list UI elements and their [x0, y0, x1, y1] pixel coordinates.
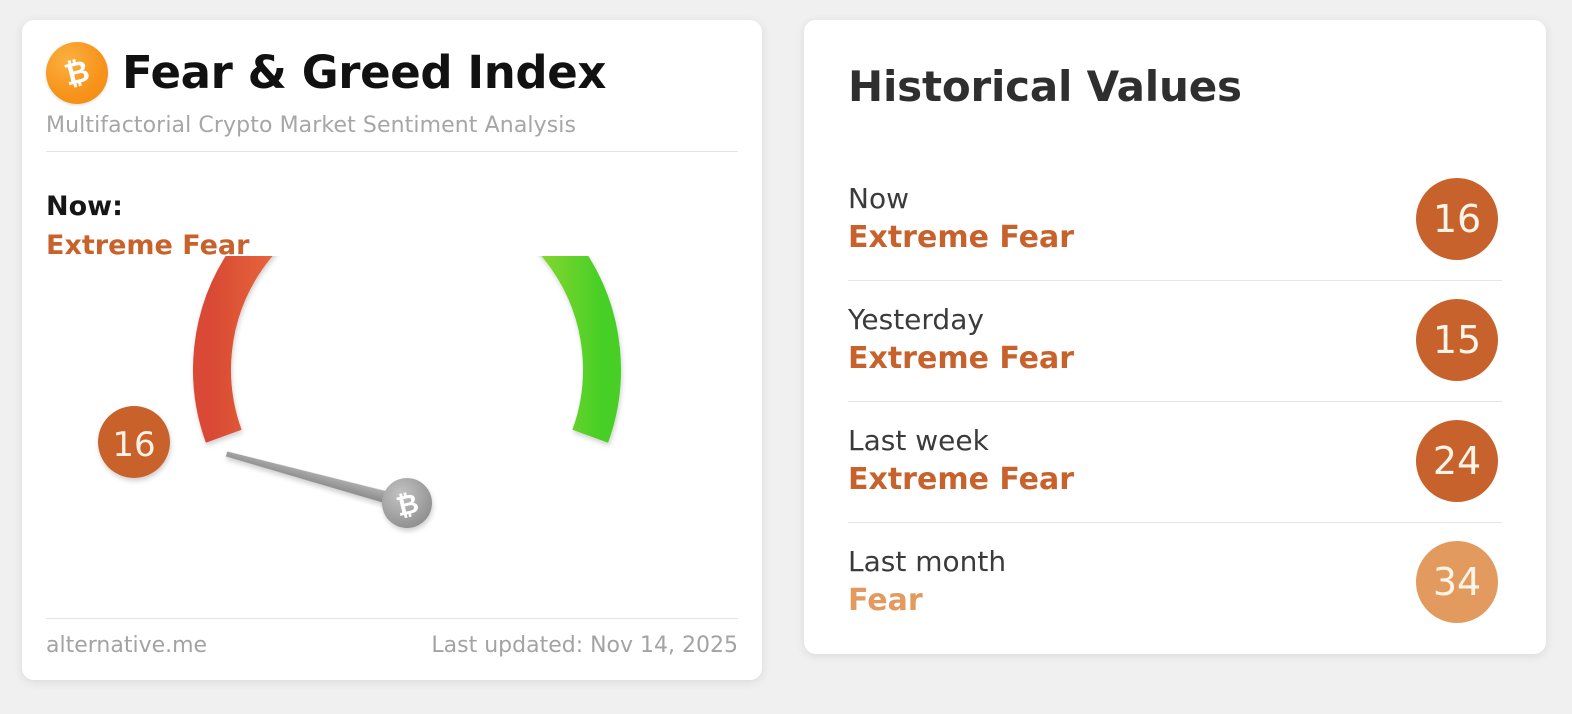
now-label: Now:: [46, 190, 249, 224]
historical-row-value-badge: 34: [1416, 541, 1498, 623]
historical-values-list: NowExtreme Fear16YesterdayExtreme Fear15…: [848, 160, 1502, 643]
historical-row: YesterdayExtreme Fear15: [848, 281, 1502, 402]
historical-row-classification: Extreme Fear: [848, 221, 1074, 256]
svg-text:16: 16: [112, 425, 155, 465]
historical-row-value-badge: 15: [1416, 299, 1498, 381]
historical-row-classification: Extreme Fear: [848, 463, 1074, 498]
historical-row-classification: Extreme Fear: [848, 342, 1074, 377]
historical-row-text: Last monthFear: [848, 546, 1006, 619]
source-link[interactable]: alternative.me: [46, 633, 207, 658]
page-subtitle: Multifactorial Crypto Market Sentiment A…: [46, 113, 738, 138]
fear-greed-index-card: ₿ Fear & Greed Index Multifactorial Cryp…: [22, 20, 762, 680]
historical-row: Last monthFear34: [848, 523, 1502, 643]
fear-greed-dashboard: ₿ Fear & Greed Index Multifactorial Cryp…: [0, 0, 1572, 714]
title-row: ₿ Fear & Greed Index: [46, 42, 738, 104]
historical-row-period: Last month: [848, 546, 1006, 578]
historical-row-text: Last weekExtreme Fear: [848, 425, 1074, 498]
historical-row-text: YesterdayExtreme Fear: [848, 304, 1074, 377]
historical-row: NowExtreme Fear16: [848, 160, 1502, 281]
historical-values-card: Historical Values NowExtreme Fear16Yeste…: [804, 20, 1546, 654]
historical-row-classification: Fear: [848, 584, 1006, 619]
historical-row-period: Now: [848, 183, 1074, 215]
footer-divider: [46, 618, 738, 619]
gauge-card-header: ₿ Fear & Greed Index Multifactorial Cryp…: [46, 42, 738, 152]
header-divider: [46, 151, 738, 152]
historical-values-title: Historical Values: [848, 62, 1242, 111]
last-updated-text: Last updated: Nov 14, 2025: [431, 633, 738, 658]
svg-text:₿: ₿: [61, 54, 93, 93]
now-status-block: Now: Extreme Fear: [46, 190, 249, 263]
historical-row: Last weekExtreme Fear24: [848, 402, 1502, 523]
historical-row-period: Last week: [848, 425, 1074, 457]
historical-row-text: NowExtreme Fear: [848, 183, 1074, 256]
bitcoin-icon: ₿: [46, 42, 108, 104]
historical-row-period: Yesterday: [848, 304, 1074, 336]
gauge-chart: ₿ 16: [22, 256, 762, 608]
gauge-card-footer: alternative.me Last updated: Nov 14, 202…: [46, 618, 738, 658]
historical-row-value-badge: 16: [1416, 178, 1498, 260]
page-title: Fear & Greed Index: [122, 49, 606, 96]
historical-row-value-badge: 24: [1416, 420, 1498, 502]
